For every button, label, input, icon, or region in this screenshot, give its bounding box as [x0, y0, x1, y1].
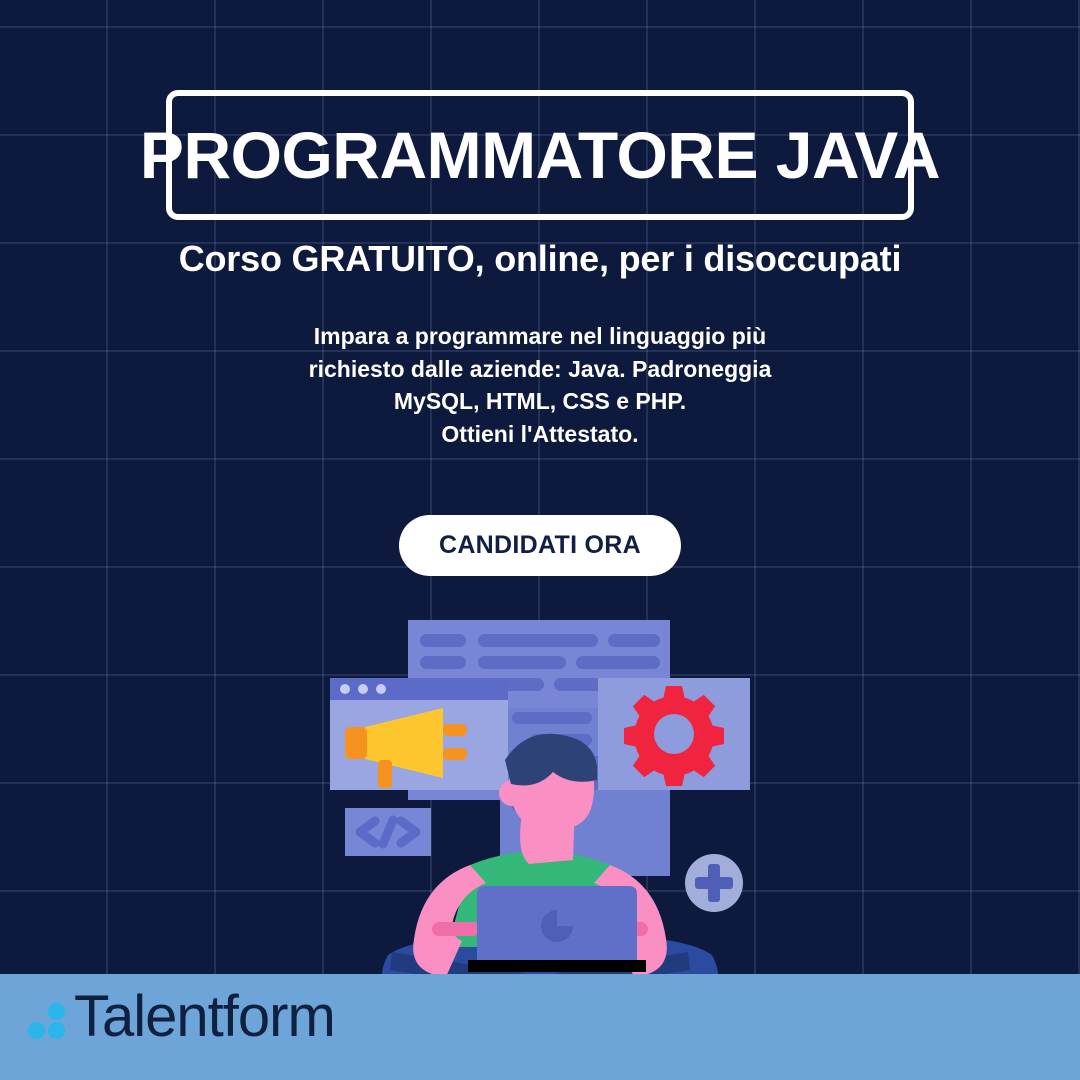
body-line-4: Ottieni l'Attestato.	[0, 418, 1080, 451]
window-dot-icon	[376, 684, 386, 694]
body-line-3: MySQL, HTML, CSS e PHP.	[0, 385, 1080, 418]
brand-name: Talentform	[74, 988, 335, 1046]
body-line-1: Impara a programmare nel linguaggio più	[0, 320, 1080, 353]
brand-logo[interactable]: Talentform	[26, 988, 335, 1046]
plus-circle-icon	[685, 854, 743, 912]
window-dot-icon	[358, 684, 368, 694]
code-brackets-tile	[345, 808, 431, 856]
footer-bar: Talentform	[0, 974, 1080, 1080]
window-dot-icon	[340, 684, 350, 694]
gear-icon	[624, 686, 724, 786]
gear-panel	[598, 678, 750, 790]
apply-now-button[interactable]: CANDIDATI ORA	[399, 515, 681, 576]
page-title: PROGRAMMATORE JAVA	[140, 122, 940, 188]
logo-dots-icon	[26, 995, 72, 1039]
body-line-2: richiesto dalle aziende: Java. Padronegg…	[0, 353, 1080, 386]
body-copy: Impara a programmare nel linguaggio più …	[0, 320, 1080, 451]
hero-illustration	[0, 600, 1080, 1020]
title-frame: PROGRAMMATORE JAVA	[166, 90, 914, 220]
poster-canvas: PROGRAMMATORE JAVA Corso GRATUITO, onlin…	[0, 0, 1080, 1080]
subtitle: Corso GRATUITO, online, per i disoccupat…	[0, 238, 1080, 280]
browser-window-panel	[330, 678, 508, 790]
